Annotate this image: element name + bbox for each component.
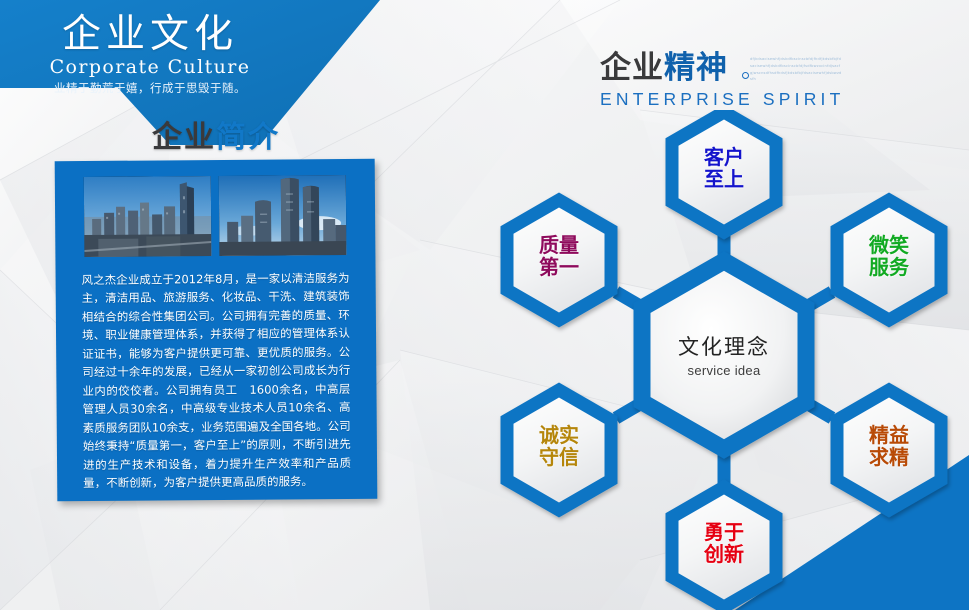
enterprise-spirit-heading-blue: 精神 xyxy=(664,50,728,86)
decorative-filler-text: dfjkdsacisewhfjdskdfbscinscbfdjfhdfjkdsb… xyxy=(750,56,842,86)
company-intro-heading-dark: 企业 xyxy=(152,120,216,155)
company-intro-card: 风之杰企业成立于2012年8月，是一家以清洁服务为主，清洁用品、旅游服务、化妆品… xyxy=(55,159,378,502)
enterprise-spirit-heading: 企业精神 ENTERPRISE SPIRIT dfjkdsacisewhfjds… xyxy=(600,52,860,110)
hexagon-petal-upper-right xyxy=(837,200,941,320)
hexagon-petal-lower-right xyxy=(837,390,941,510)
hexagon-petal-lower-left xyxy=(507,390,611,510)
company-photo-strip xyxy=(84,175,347,257)
company-intro-heading-blue: 简介 xyxy=(216,120,280,155)
hexagon-center-label-en: service idea xyxy=(644,363,804,378)
hexagon-petal-top xyxy=(672,112,776,232)
culture-hexagon-diagram: 客户 至上 微笑 服务 精益 求精 勇于 创新 诚实 守信 质量 第一 文化理念… xyxy=(480,110,969,610)
hexagon-petal-bottom xyxy=(672,487,776,607)
hexagon-center-label-cn: 文化理念 xyxy=(644,331,804,361)
banner-title-en: Corporate Culture xyxy=(0,56,300,78)
enterprise-spirit-heading-dark: 企业 xyxy=(600,50,664,86)
decorative-circle-icon xyxy=(742,72,749,79)
enterprise-spirit-heading-en: ENTERPRISE SPIRIT xyxy=(600,89,860,110)
poster-canvas: 企业文化 Corporate Culture 业精于勤荒于嬉，行成于思毁于随。 … xyxy=(0,0,969,610)
banner-title-cn: 企业文化 xyxy=(0,14,300,57)
city-skyline-photo-2 xyxy=(219,175,347,256)
city-skyline-photo-1 xyxy=(84,176,212,257)
banner-subtitle: 业精于勤荒于嬉，行成于思毁于随。 xyxy=(0,80,300,96)
hexagon-petal-upper-left xyxy=(507,200,611,320)
company-intro-heading: 企业简介 xyxy=(152,112,280,156)
company-intro-text: 风之杰企业成立于2012年8月，是一家以清洁服务为主，清洁用品、旅游服务、化妆品… xyxy=(82,269,352,493)
